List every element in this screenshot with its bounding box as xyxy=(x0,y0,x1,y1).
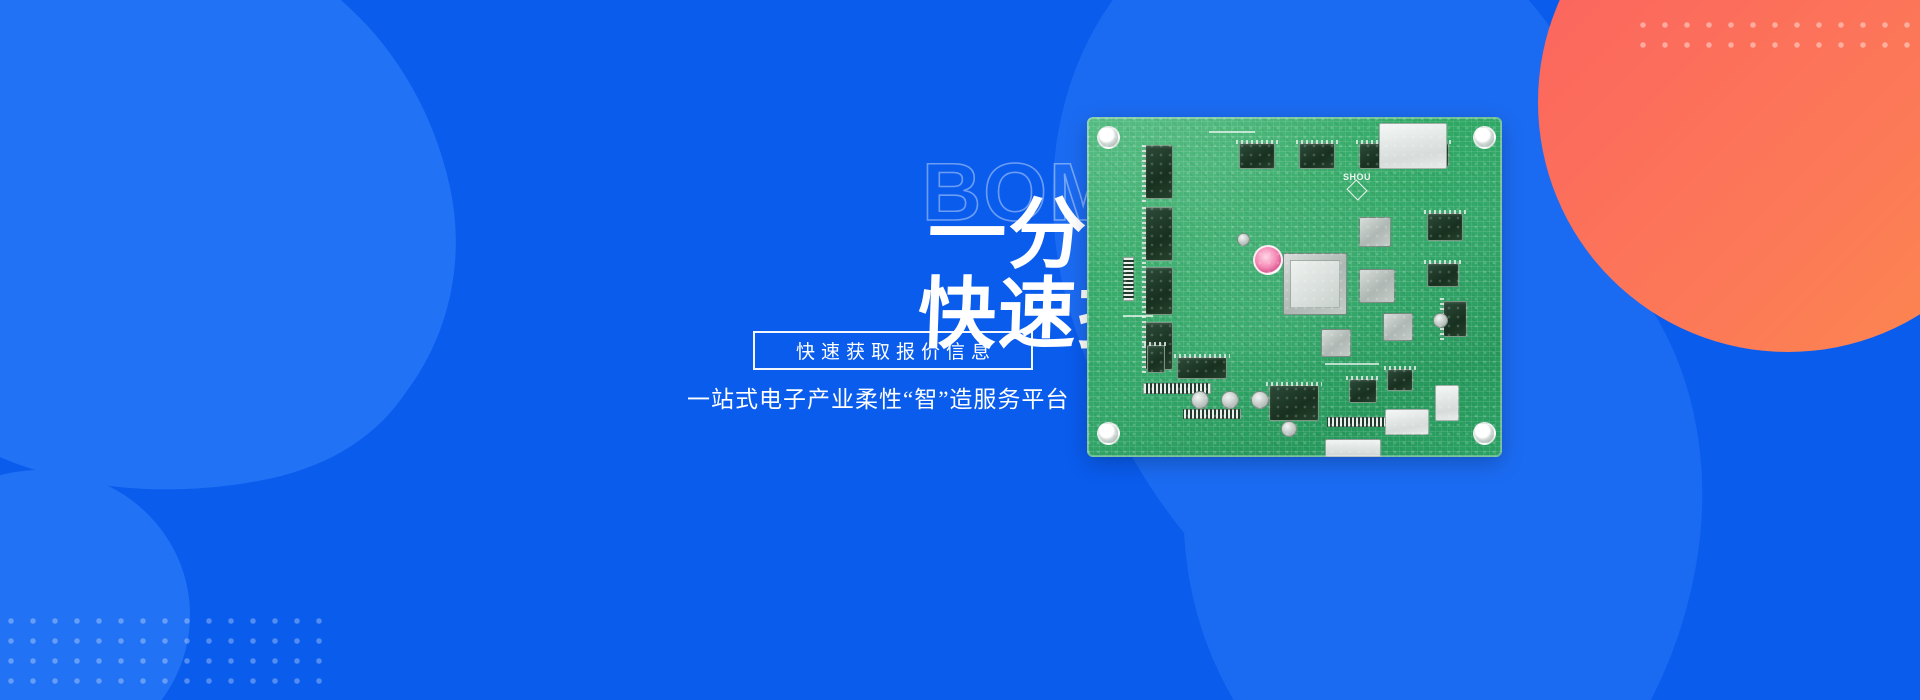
pcb-capacitor xyxy=(1237,233,1250,246)
pcb-inductor xyxy=(1359,217,1391,247)
pcb-chip xyxy=(1359,143,1395,169)
pcb-chip xyxy=(1145,207,1173,261)
pcb-brand-logo-text: SHOU xyxy=(1343,172,1371,182)
pcb-chip xyxy=(1417,143,1449,167)
pcb-connector xyxy=(1435,385,1459,421)
pcb-processor-die xyxy=(1290,260,1340,308)
pcb-capacitor xyxy=(1281,421,1297,437)
pcb-chip xyxy=(1427,213,1463,241)
pcb-mounting-hole xyxy=(1097,422,1120,445)
pcb-capacitor xyxy=(1433,313,1448,328)
pcb-capacitor xyxy=(1251,391,1269,409)
pcb-chip xyxy=(1443,301,1467,337)
pcb-chip xyxy=(1239,143,1275,169)
pcb-chip xyxy=(1145,322,1173,370)
blob-shape-bottom-left xyxy=(0,470,190,700)
pcb-pin-header xyxy=(1183,409,1241,419)
pcb-chip xyxy=(1299,143,1335,169)
pcb-pin-header xyxy=(1143,383,1211,394)
pcb-pin-header xyxy=(1123,257,1134,301)
pcb-brand-logo-mark xyxy=(1346,179,1367,200)
pcb-silkscreen xyxy=(1325,363,1379,365)
pcb-capacitor xyxy=(1221,391,1239,409)
pcb-silkscreen xyxy=(1209,131,1255,133)
pcb-inductor xyxy=(1383,313,1413,341)
pcb-inductor xyxy=(1359,269,1395,303)
pcb-substrate: SHOU xyxy=(1087,117,1502,457)
pcb-mounting-hole xyxy=(1473,422,1496,445)
cta-button[interactable]: 快速获取报价信息 xyxy=(753,331,1033,370)
dot-grid-top-right xyxy=(1640,22,1920,60)
dot-grid-bottom-left xyxy=(8,618,338,684)
pcb-mounting-hole xyxy=(1473,126,1496,149)
pcb-pin-header xyxy=(1327,417,1389,427)
pcb-processor-bga xyxy=(1283,253,1347,315)
pcb-chip xyxy=(1269,385,1319,421)
pcb-audio-jack xyxy=(1253,245,1283,275)
blob-shape-left-secondary xyxy=(0,56,474,544)
blob-shape-left xyxy=(0,0,501,558)
pcb-connector xyxy=(1385,409,1429,435)
pcb-chip xyxy=(1145,145,1173,199)
pcb-capacitor xyxy=(1191,391,1209,409)
pcb-mounting-hole xyxy=(1097,126,1120,149)
coral-circle-decoration xyxy=(1538,0,1920,352)
pcb-chip xyxy=(1349,379,1377,403)
pcb-inductor xyxy=(1321,329,1351,357)
tagline-text: 一站式电子产业柔性“智”造服务平台 xyxy=(687,380,1069,414)
pcb-chip xyxy=(1387,369,1413,391)
cta-button-label: 快速获取报价信息 xyxy=(790,337,996,364)
promo-banner: BOMBOM 一分钟 快速报价 快速获取报价信息 一站式电子产业柔性“智”造服务… xyxy=(0,0,1920,700)
pcb-silkscreen xyxy=(1123,315,1153,317)
pcb-chip xyxy=(1147,345,1165,373)
pcb-circuit-board-image: SHOU xyxy=(1087,117,1502,457)
pcb-chip xyxy=(1427,263,1459,287)
pcb-chip xyxy=(1177,357,1227,379)
pcb-chip xyxy=(1145,267,1173,315)
pcb-brand-logo: SHOU xyxy=(1343,173,1371,197)
pcb-edge-tab xyxy=(1325,439,1381,457)
pcb-sd-slot xyxy=(1379,123,1447,169)
